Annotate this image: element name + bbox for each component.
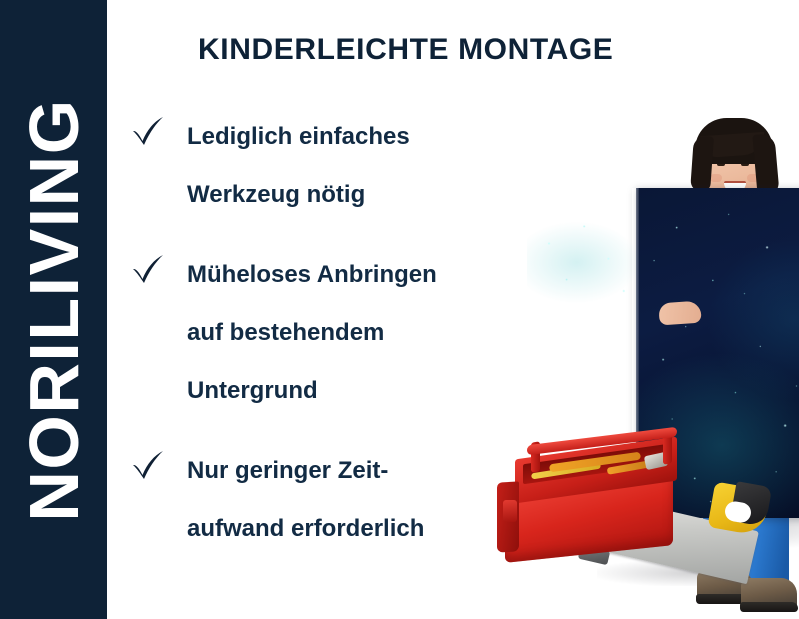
list-item-line: Nur geringer Zeit-	[187, 442, 525, 500]
list-item: Müheloses Anbringen auf bestehendem Unte…	[125, 246, 525, 420]
brand-name: NORILIVING	[19, 98, 89, 521]
list-item-text: Müheloses Anbringen auf bestehendem Unte…	[187, 246, 525, 420]
list-item: Nur geringer Zeit- aufwand erforderlich	[125, 442, 525, 558]
toolbox-latch	[503, 500, 517, 522]
list-item-line: Müheloses Anbringen	[187, 246, 525, 304]
list-item-text: Lediglich einfaches Werkzeug nötig	[187, 108, 525, 224]
brand-sidebar: NORILIVING	[0, 0, 107, 619]
checkmark-icon	[131, 116, 165, 146]
list-item-text: Nur geringer Zeit- aufwand erforderlich	[187, 442, 525, 558]
list-item-line: auf bestehendem	[187, 304, 525, 362]
feature-list: Lediglich einfaches Werkzeug nötig Mühel…	[125, 108, 525, 580]
checkmark-icon	[131, 254, 165, 284]
list-item-line: Werkzeug nötig	[187, 166, 525, 224]
hand-left	[658, 301, 701, 326]
promo-banner: NORILIVING KINDERLEICHTE MONTAGE Ledigli…	[0, 0, 799, 619]
list-item-line: Untergrund	[187, 362, 525, 420]
list-item-line: Lediglich einfaches	[187, 108, 525, 166]
star-cluster	[527, 215, 637, 310]
checkmark-icon	[131, 450, 165, 480]
person-hand-layer	[637, 118, 799, 588]
product-photo	[487, 0, 799, 619]
content-area: KINDERLEICHTE MONTAGE Lediglich einfache…	[107, 0, 799, 619]
list-item-line: aufwand erforderlich	[187, 500, 525, 558]
list-item: Lediglich einfaches Werkzeug nötig	[125, 108, 525, 224]
